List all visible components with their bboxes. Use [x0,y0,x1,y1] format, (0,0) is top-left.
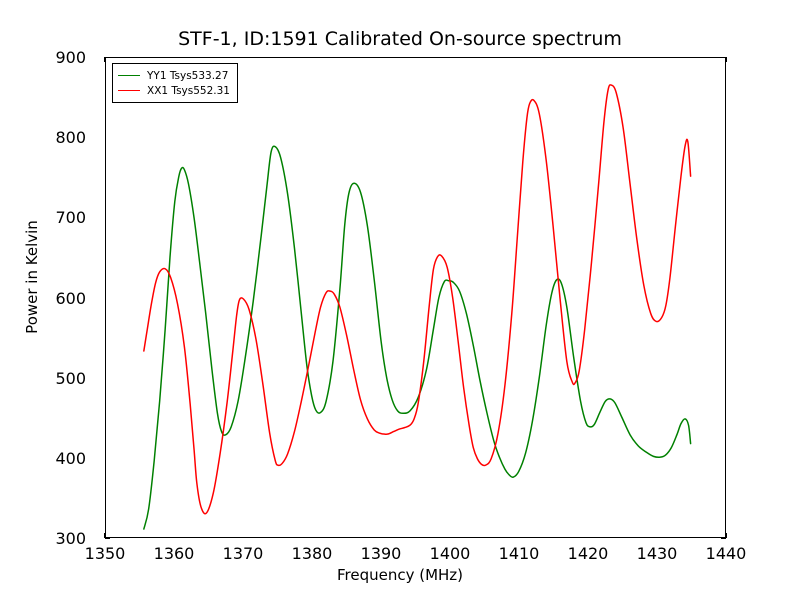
chart-legend: YY1 Tsys533.27XX1 Tsys552.31 [112,63,238,103]
y-tick-label: 500 [16,369,86,388]
y-tick-label: 900 [16,48,86,67]
legend-color-swatch [118,75,140,76]
x-tick-label: 1350 [65,544,145,563]
chart-title: STF-1, ID:1591 Calibrated On-source spec… [0,28,800,50]
y-tick-label: 400 [16,449,86,468]
y-tick-label: 600 [16,289,86,308]
chart-figure: STF-1, ID:1591 Calibrated On-source spec… [0,0,800,600]
legend-label: YY1 Tsys533.27 [147,70,228,82]
legend-item-0[interactable]: YY1 Tsys533.27 [118,68,230,83]
x-tick-label: 1380 [272,544,352,563]
x-axis-label: Frequency (MHz) [0,566,800,584]
x-tick-label: 1360 [134,544,214,563]
x-tick-label: 1440 [686,544,766,563]
series-line-1 [144,85,691,514]
series-line-0 [144,146,691,529]
x-tick-label: 1420 [548,544,628,563]
y-tick-label: 700 [16,208,86,227]
y-tick-label: 800 [16,128,86,147]
x-tick-label: 1410 [479,544,559,563]
legend-item-1[interactable]: XX1 Tsys552.31 [118,83,230,98]
legend-color-swatch [118,90,140,91]
x-tick-label: 1390 [341,544,421,563]
plot-area [105,57,726,538]
plot-lines [106,58,725,537]
x-tick-label: 1400 [410,544,490,563]
x-tick-label: 1430 [617,544,697,563]
x-tick-label: 1370 [203,544,283,563]
legend-label: XX1 Tsys552.31 [147,85,230,97]
